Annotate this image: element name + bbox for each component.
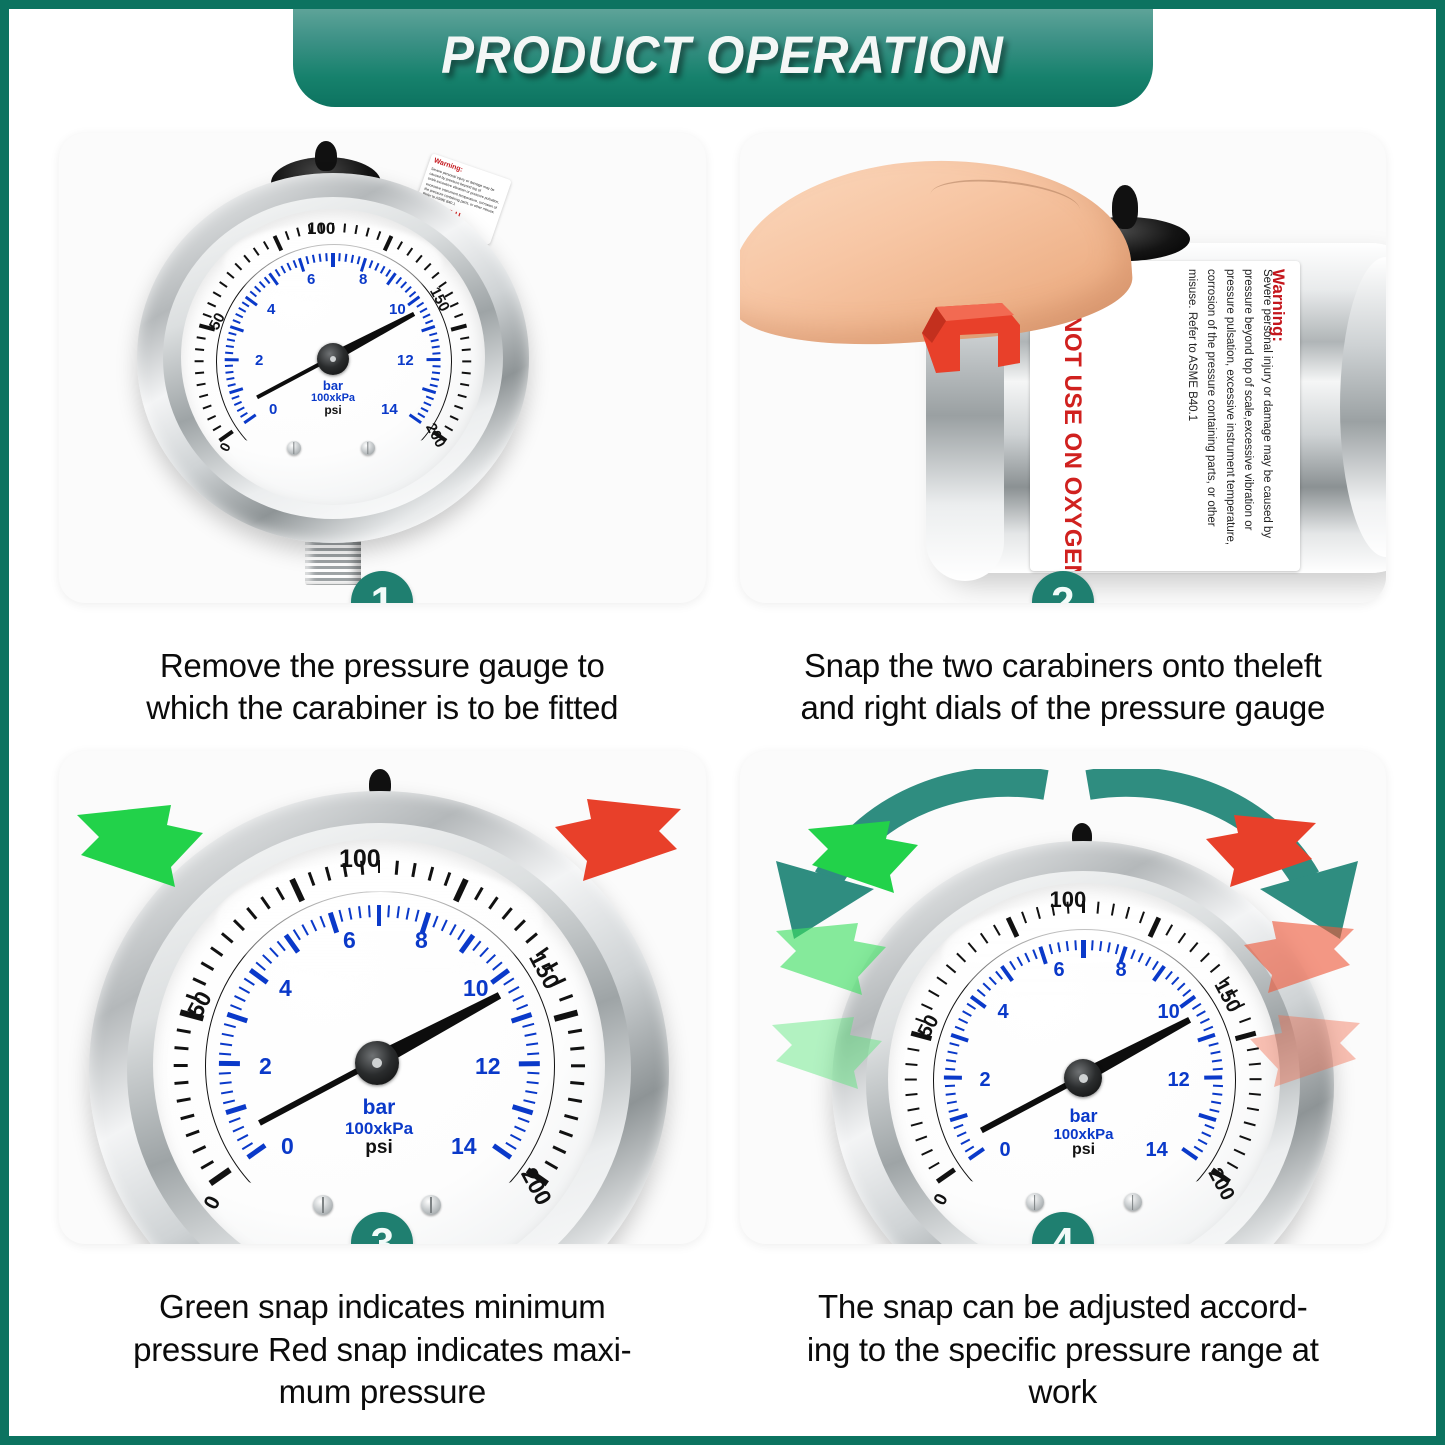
step-3-caption-line-1: Green snap indicates minimum (65, 1286, 700, 1328)
psi-label-200: 200 (515, 1164, 557, 1211)
green-snap-marker (806, 819, 936, 899)
psi-tick (915, 1135, 927, 1141)
step-2-image-card: Warning: Severe personal injury or damag… (740, 133, 1387, 603)
warning-body: Severe personal injury or damage may be … (1182, 269, 1275, 559)
psi-tick (199, 394, 208, 398)
bar-tick (225, 358, 239, 361)
step-badge-2: 2 (1032, 571, 1094, 603)
vent-nipple-icon (315, 141, 337, 171)
gauge-dial-face: 0 50 100 150 200 0 2 4 6 8 10 12 14 (181, 209, 485, 505)
psi-tick (203, 404, 212, 409)
dial-screw-right (1124, 1193, 1142, 1211)
psi-tick (554, 1009, 578, 1021)
psi-tick (928, 989, 939, 997)
psi-tick (911, 1121, 923, 1126)
bar-tick (519, 1061, 540, 1066)
bar-label-2: 2 (255, 352, 263, 369)
psi-tick (444, 291, 453, 297)
step-4-caption-line-1: The snap can be adjusted accord- (746, 1286, 1381, 1328)
bar-tick (368, 905, 371, 917)
psi-tick (192, 977, 205, 985)
bar-label-14: 14 (1146, 1139, 1168, 1162)
psi-tick (176, 1028, 190, 1033)
red-snap-marker (1188, 813, 1318, 893)
psi-tick (210, 946, 223, 956)
step-3-caption-line-3: mum pressure (65, 1371, 700, 1413)
step-1: Warning: Severe personal injury or damag… (59, 133, 706, 729)
gauge-illustration-1: Warning: Severe personal injury or damag… (119, 143, 579, 603)
dial-unit-text: bar 100xkPa psi (345, 1097, 413, 1157)
psi-tick (197, 383, 206, 386)
bar-tick (377, 905, 382, 926)
psi-tick (921, 1003, 933, 1010)
step-3-image-card: 0 50 100 150 200 0 2 4 6 8 10 12 14 (59, 751, 706, 1244)
psi-tick (207, 302, 216, 307)
psi-tick (378, 860, 381, 874)
psi-tick (219, 281, 228, 288)
psi-tick (195, 360, 204, 362)
step-4-caption: The snap can be adjusted accord- ing to … (740, 1286, 1387, 1413)
psi-tick (444, 425, 453, 431)
red-snap-marker-ghost-2 (1232, 1013, 1362, 1093)
psi-tick (1247, 1107, 1259, 1111)
bar-label-14: 14 (451, 1133, 477, 1160)
bar-label-0: 0 (1000, 1139, 1011, 1162)
page-title: PRODUCT OPERATION (441, 25, 1004, 86)
psi-tick (1234, 1149, 1246, 1156)
psi-tick (180, 1114, 194, 1120)
green-snap-marker (75, 803, 225, 893)
psi-tick (568, 1028, 582, 1033)
step-1-caption-line-1: Remove the pressure gauge to (65, 645, 700, 687)
step-4-image-card: 0 50 100 150 200 0 2 4 6 8 10 12 14 (740, 751, 1387, 1244)
psi-tick (553, 1145, 566, 1153)
dial-screw-right (421, 1195, 441, 1215)
bar-tick (1205, 1076, 1223, 1080)
bar-label-10: 10 (463, 975, 489, 1002)
bar-label-12: 12 (1168, 1069, 1190, 1092)
psi-tick (200, 961, 213, 970)
steps-grid: Warning: Severe personal injury or damag… (9, 133, 1436, 1413)
step-1-caption-line-2: which the carabiner is to be fitted (65, 687, 700, 729)
psi-tick (451, 323, 467, 331)
step-4-caption-line-2: ing to the specific pressure range at (746, 1329, 1381, 1371)
bar-label-4: 4 (267, 301, 275, 318)
bar-label-4: 4 (279, 975, 292, 1002)
psi-tick (1082, 901, 1084, 913)
unit-bar: bar (311, 379, 355, 393)
bar-tick (1074, 941, 1077, 951)
step-4-caption-line-3: work (746, 1371, 1381, 1413)
psi-tick (921, 1149, 933, 1156)
psi-tick (360, 860, 364, 874)
psi-tick (200, 1160, 213, 1169)
psi-tick (908, 1107, 920, 1111)
bar-tick (1091, 941, 1094, 951)
unit-bar: bar (345, 1097, 413, 1119)
step-4: 0 50 100 150 200 0 2 4 6 8 10 12 14 (740, 751, 1387, 1413)
psi-tick (908, 1047, 920, 1051)
psi-tick (185, 1130, 199, 1137)
psi-tick (568, 1097, 582, 1102)
step-1-image-card: Warning: Severe personal injury or damag… (59, 133, 706, 603)
bar-label-2: 2 (980, 1069, 991, 1092)
bar-label-12: 12 (397, 352, 414, 369)
unit-kpa: 100xkPa (1053, 1127, 1113, 1143)
unit-psi: psi (311, 404, 355, 417)
psi-tick (458, 394, 467, 398)
psi-tick (462, 348, 471, 351)
psi-tick (564, 1114, 578, 1120)
psi-tick (462, 371, 471, 374)
psi-tick (332, 223, 334, 232)
step-2-caption-line-2: and right dials of the pressure gauge (746, 687, 1381, 729)
bar-label-8: 8 (359, 271, 367, 288)
dial-unit-text: bar 100xkPa psi (311, 379, 355, 417)
psi-tick (570, 1081, 584, 1085)
dial-screw-left (287, 441, 301, 455)
red-snap-marker (533, 797, 683, 887)
psi-tick (460, 383, 469, 386)
needle-hub-dot (1079, 1074, 1088, 1083)
psi-tick (1244, 1121, 1256, 1126)
bar-label-0: 0 (281, 1133, 294, 1160)
psi-tick (559, 1130, 573, 1137)
green-snap-marker-ghost-1 (774, 921, 904, 1001)
bar-label-6: 6 (343, 927, 356, 954)
psi-tick (571, 1064, 585, 1067)
psi-tick (213, 291, 222, 297)
psi-tick (905, 1078, 917, 1080)
bar-label-0: 0 (269, 401, 277, 418)
bar-tick (1081, 940, 1085, 958)
infographic-page: PRODUCT OPERATION Warning: Severe person… (0, 0, 1445, 1445)
psi-tick (213, 425, 222, 431)
header-banner: PRODUCT OPERATION (293, 3, 1153, 107)
unit-psi: psi (345, 1138, 413, 1158)
psi-tick (197, 336, 206, 339)
psi-tick (454, 404, 463, 409)
psi-tick (174, 1081, 188, 1085)
psi-tick (209, 1167, 232, 1185)
psi-tick (1240, 1135, 1252, 1141)
psi-tick (195, 371, 204, 374)
gauge-illustration-3: 0 50 100 150 200 0 2 4 6 8 10 12 14 (69, 777, 689, 1244)
psi-tick (207, 415, 216, 420)
psi-label-200: 200 (1202, 1165, 1238, 1205)
psi-tick (928, 1162, 939, 1170)
psi-tick (450, 415, 459, 420)
red-snap-marker (902, 281, 1032, 373)
bar-label-10: 10 (389, 301, 406, 318)
psi-tick (176, 1097, 190, 1102)
psi-tick (219, 430, 234, 442)
psi-tick (559, 994, 573, 1001)
bar-label-6: 6 (307, 271, 315, 288)
psi-tick (570, 1046, 584, 1050)
gauge-dial-face: 0 50 100 150 200 0 2 4 6 8 10 12 14 (888, 883, 1280, 1244)
step-2-caption-line-1: Snap the two carabiners onto theleft (746, 645, 1381, 687)
psi-tick (906, 1093, 918, 1096)
unit-psi: psi (1053, 1142, 1113, 1159)
psi-tick (937, 976, 948, 985)
step-3: 0 50 100 150 200 0 2 4 6 8 10 12 14 (59, 751, 706, 1413)
bar-label-4: 4 (998, 1001, 1009, 1024)
bar-label-6: 6 (1054, 959, 1065, 982)
dial-screw-right (361, 441, 375, 455)
bar-tick (219, 1061, 240, 1066)
psi-tick (1227, 1162, 1238, 1170)
psi-tick (460, 336, 469, 339)
unit-bar: bar (1053, 1107, 1113, 1126)
bar-tick (944, 1076, 962, 1080)
psi-tick (462, 360, 471, 362)
bar-label-2: 2 (259, 1053, 272, 1080)
psi-label-0: 0 (216, 440, 234, 454)
psi-tick (936, 1168, 956, 1184)
dial-screw-left (1026, 1193, 1044, 1211)
unit-kpa: 100xkPa (345, 1120, 413, 1138)
red-snap-marker-ghost-1 (1226, 919, 1356, 999)
psi-tick (173, 1064, 187, 1067)
step-3-caption-line-2: pressure Red snap indicates maxi- (65, 1329, 700, 1371)
bar-label-12: 12 (475, 1053, 501, 1080)
bar-tick (427, 358, 441, 361)
bar-tick (331, 253, 334, 267)
psi-tick (454, 313, 463, 318)
psi-tick (192, 1145, 205, 1153)
bar-label-10: 10 (1158, 1001, 1180, 1024)
step-1-caption: Remove the pressure gauge to which the c… (59, 645, 706, 729)
green-snap-marker-ghost-2 (770, 1015, 900, 1095)
psi-tick (545, 1160, 558, 1169)
step-2: Warning: Severe personal injury or damag… (740, 133, 1387, 729)
psi-tick (906, 1063, 918, 1066)
step-2-caption: Snap the two carabiners onto theleft and… (740, 645, 1387, 729)
psi-tick (195, 348, 204, 351)
psi-tick (174, 1046, 188, 1050)
needle-hub-dot (330, 356, 336, 362)
dial-unit-text: bar 100xkPa psi (1053, 1107, 1113, 1159)
bar-label-14: 14 (381, 401, 398, 418)
step-3-caption: Green snap indicates minimum pressure Re… (59, 1286, 706, 1413)
